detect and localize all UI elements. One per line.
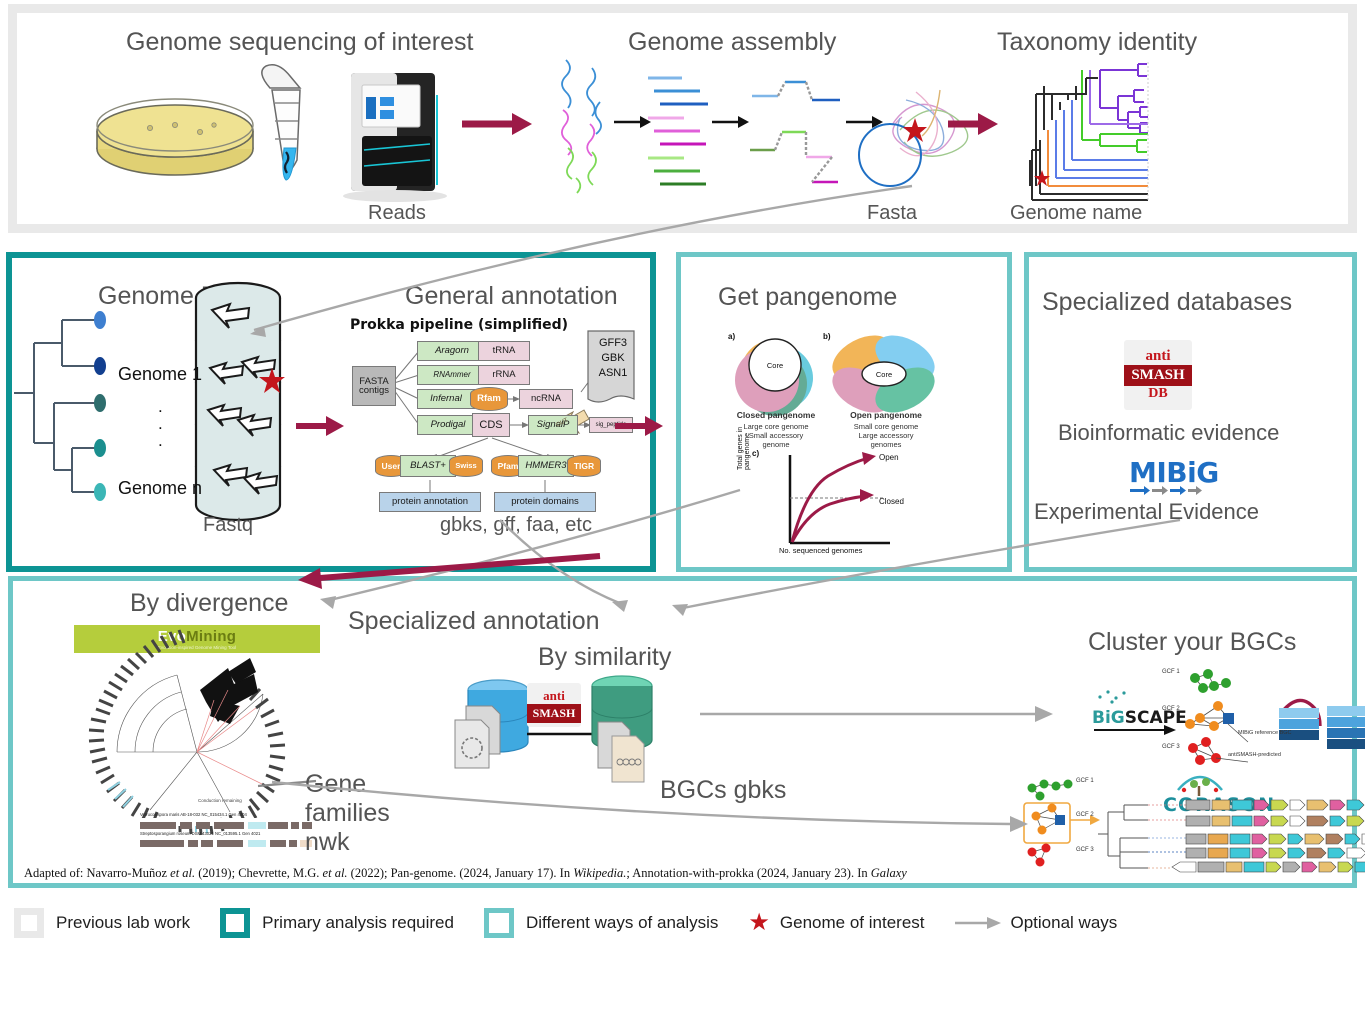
panel-title-general-annotation: General annotation: [405, 282, 618, 311]
citation-italic-2: et al.: [323, 866, 348, 880]
caption-gbks-gff-faa: gbks, gff, faa, etc: [440, 514, 592, 537]
pangenome-index-a: a): [728, 332, 735, 341]
legend: Previous lab work Primary analysis requi…: [14, 908, 1147, 938]
label-experimental-evidence: Experimental Evidence: [1034, 499, 1259, 525]
pangenome-name-closed: Closed pangenome: [716, 410, 836, 421]
corason-gcf-label-3: GCF 3: [1076, 847, 1094, 853]
legend-label-previous-lab-work: Previous lab work: [56, 913, 190, 933]
bigscape-logo-big: BiG: [1092, 708, 1125, 728]
citation-italic-1: et al.: [170, 866, 195, 880]
section-title-by-similarity: By similarity: [538, 643, 671, 672]
evomining-track-label-2: Streptosporangium roseum DSM 43021 NC_01…: [140, 831, 260, 836]
panel-title-specialized-databases: Specialized databases: [1042, 288, 1292, 317]
evomining-track-label-1: Verrucosispora maris AB-18-032 NC_015434…: [140, 812, 247, 817]
prokka-tool-aragorn: Aragorn: [417, 341, 487, 361]
prokka-db-tigr: TIGR: [567, 455, 601, 477]
bigscape-gcf-label-3: GCF 3: [1162, 744, 1180, 750]
pangenome-caption-closed: Closed pangenome Large core genome Small…: [716, 410, 836, 450]
legend-item-primary-analysis: Primary analysis required: [220, 908, 454, 938]
evomining-logo-banner: EvoMining Evolution-inspired Genome Mini…: [74, 625, 320, 653]
antismash-tool-smash: SMASH: [527, 704, 581, 723]
tree-label-genome-1: Genome 1: [118, 364, 202, 385]
mibig-logo: MIBiG: [1129, 456, 1219, 489]
corason-gcf-label-2: GCF 2: [1076, 812, 1094, 818]
citation-part-3: ; Annotation-with-prokka (2024, January …: [626, 866, 870, 880]
legend-swatch-light-teal: [484, 908, 514, 938]
prokka-output-rrna: rRNA: [478, 365, 530, 385]
legend-item-optional-ways: Optional ways: [955, 913, 1118, 933]
legend-label-primary-analysis: Primary analysis required: [262, 913, 454, 933]
prokka-db-swiss: Swiss: [449, 455, 483, 477]
curve-label-closed: Closed: [879, 497, 904, 506]
panel-specialized-annotation: [8, 576, 1357, 888]
legend-label-optional-ways: Optional ways: [1011, 913, 1118, 933]
label-bioinformatic-evidence: Bioinformatic evidence: [1058, 420, 1279, 446]
pangenome-index-c: c): [752, 449, 759, 458]
evomining-logo-subtitle: Evolution-inspired Genome Mining Tool: [158, 645, 236, 650]
mibig-logo-text: MIBiG: [1129, 456, 1219, 489]
citation-italic-4: Galaxy: [871, 866, 907, 880]
star-icon: ★: [748, 911, 770, 935]
legend-label-different-ways: Different ways of analysis: [526, 913, 718, 933]
pangenome-name-open: Open pangenome: [826, 410, 946, 421]
evomining-logo-title: EvoMining: [158, 628, 237, 645]
prokka-tool-infernal: Infernal: [417, 389, 475, 409]
pangenome-index-b: b): [823, 332, 831, 341]
legend-item-different-ways: Different ways of analysis: [484, 908, 718, 938]
section-title-genome-sequencing: Genome sequencing of interest: [126, 28, 473, 57]
prokka-output-cds: CDS: [472, 413, 510, 437]
prokka-tool-rnammer: RNAmmer: [417, 365, 487, 385]
citation-part-2: (2022); Pan-genome. (2024, January 17). …: [348, 866, 574, 880]
pangenome-desc-closed: Large core genome Small accessory genome: [743, 422, 808, 450]
panel-title-genome-db: Genome DB: [98, 282, 236, 311]
prokka-tool-hmmer3: HMMER3: [518, 455, 574, 477]
prokka-result-protein-domains: protein domains: [494, 492, 596, 512]
caption-gene-families-nwk: Gene families nwk: [305, 770, 383, 856]
bigscape-gcf-label-2: GCF 2: [1162, 706, 1180, 712]
corason-logo: CORASON: [1163, 794, 1275, 816]
prokka-title: Prokka pipeline (simplified): [350, 317, 568, 333]
antismash-logo-db: DB: [1148, 386, 1167, 402]
prokka-output-files: GFF3 GBK ASN1: [593, 336, 633, 381]
prokka-db-rfam: Rfam: [470, 387, 508, 411]
caption-reads: Reads: [368, 202, 426, 225]
citation-part-1: (2019); Chevrette, M.G.: [195, 866, 322, 880]
prokka-tool-signalp: SignalP: [528, 415, 578, 435]
bigscape-gcf-label-1: GCF 1: [1162, 669, 1180, 675]
arrow-icon: [955, 916, 1001, 930]
prokka-tool-prodigal: Prodigal: [417, 415, 479, 435]
caption-fastq: Fastq: [203, 514, 253, 537]
corason-gcf-label-1: GCF 1: [1076, 778, 1094, 784]
prokka-tool-blast: BLAST+: [400, 455, 456, 477]
curve-label-open: Open: [879, 453, 899, 462]
section-title-taxonomy-identity: Taxonomy identity: [997, 28, 1197, 57]
caption-genome-name: Genome name: [1010, 202, 1142, 225]
citation-italic-3: Wikipedia.: [573, 866, 626, 880]
evomining-logo-mining: Mining: [186, 628, 236, 645]
antismash-logo-smash: SMASH: [1124, 365, 1192, 386]
section-title-genome-assembly: Genome assembly: [628, 28, 836, 57]
evomining-chart-caption: Conduction remaining: [198, 798, 242, 803]
chart-xlabel-sequenced-genomes: No. sequenced genomes: [779, 546, 862, 555]
citation-prefix: Adapted of: Navarro-Muñoz: [24, 866, 170, 880]
section-title-by-divergence: By divergence: [130, 589, 288, 618]
antismash-tool-anti: anti: [543, 688, 565, 704]
prokka-output-ncrna: ncRNA: [519, 389, 573, 409]
legend-item-genome-of-interest: ★ Genome of interest: [748, 911, 924, 935]
panel-title-specialized-annotation: Specialized annotation: [348, 607, 600, 636]
workflow-diagram: Genome sequencing of interest Genome ass…: [0, 0, 1365, 1023]
prokka-result-protein-annotation: protein annotation: [379, 492, 481, 512]
caption-fasta: Fasta: [867, 202, 917, 225]
tree-label-genome-n: Genome n: [118, 478, 202, 499]
prokka-output-sig-peptide: sig_peptide: [589, 417, 633, 433]
annotation-antismash-predicted: antiSMASH-predicted: [1228, 752, 1281, 758]
legend-swatch-gray: [14, 908, 44, 938]
tree-ellipsis: ...: [158, 398, 163, 449]
panel-title-get-pangenome: Get pangenome: [718, 283, 897, 312]
pangenome-caption-open: Open pangenome Small core genome Large a…: [826, 410, 946, 450]
section-title-cluster-bgcs: Cluster your BGCs: [1088, 628, 1296, 657]
prokka-input-label: FASTA contigs: [359, 377, 389, 396]
citation-text: Adapted of: Navarro-Muñoz et al. (2019);…: [24, 866, 1024, 882]
legend-swatch-dark-teal: [220, 908, 250, 938]
chart-ylabel-total-genes: Total genes in pangenome: [737, 390, 751, 470]
corason-logo-text: CORASON: [1163, 794, 1275, 816]
prokka-input-fasta-contigs: FASTA contigs: [352, 366, 396, 406]
antismash-db-logo: anti SMASH DB: [1124, 340, 1192, 410]
legend-item-previous-lab-work: Previous lab work: [14, 908, 190, 938]
antismash-logo-anti: anti: [1145, 348, 1170, 365]
pangenome-desc-open: Small core genome Large accessory genome…: [854, 422, 919, 450]
caption-bgcs-gbks: BGCs gbks: [660, 776, 786, 805]
annotation-mibig-reference-bgc: MIBiG reference BGC: [1238, 730, 1292, 736]
evomining-logo-evo: Evo: [158, 628, 186, 645]
antismash-tool-logo: anti SMASH: [527, 683, 581, 727]
legend-label-genome-of-interest: Genome of interest: [780, 913, 925, 933]
prokka-output-trna: tRNA: [478, 341, 530, 361]
